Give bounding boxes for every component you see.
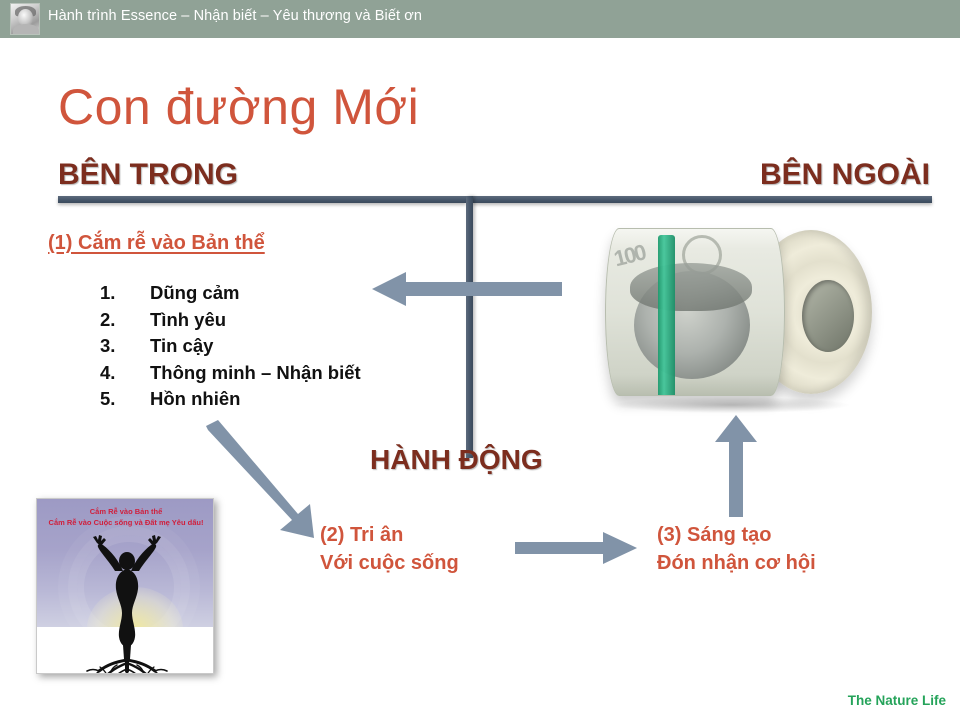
arrow-down-right-icon [200,420,320,535]
list-item-number: 3. [100,333,150,359]
page-title: Con đường Mới [58,78,419,136]
money-denomination: 100 [611,240,647,273]
money-roll-hole [802,280,854,352]
heading-outside: BÊN NGOÀI [760,158,930,192]
list-item-number: 2. [100,307,150,333]
step-2-line-2: Với cuộc sống [320,549,459,577]
list-item: 4. Thông minh – Nhận biết [100,360,500,386]
list-item-label: Thông minh – Nhận biết [150,360,361,386]
money-roll-front: 100 [605,228,785,396]
poster-text-line-2: Cắm Rễ vào Cuộc sống và Đất mẹ Yêu dấu! [37,517,214,528]
list-item-label: Tình yêu [150,307,226,333]
list-item: 3. Tin cậy [100,333,500,359]
slide-canvas: Hành trình Essence – Nhận biết – Yêu thư… [0,0,960,720]
avatar-body-shape [13,24,39,35]
list-item: 2. Tình yêu [100,307,500,333]
money-shadow [614,397,849,413]
step-3-label: (3) Sáng tạo Đón nhận cơ hội [657,521,816,577]
action-label: HÀNH ĐỘNG [370,444,543,476]
footer-watermark: The Nature Life [848,693,946,708]
list-item: 5. Hồn nhiên [100,386,500,412]
list-item-number: 5. [100,386,150,412]
list-item-label: Dũng cảm [150,280,239,306]
list-item-number: 4. [100,360,150,386]
step-2-line-1: (2) Tri ân [320,521,459,549]
step-2-label: (2) Tri ân Với cuộc sống [320,521,459,577]
step-3-line-2: Đón nhận cơ hội [657,549,816,577]
list-item-label: Tin cậy [150,333,213,359]
subheading-root-into-self: (1) Cắm rễ vào Bản thể [48,232,265,255]
heading-inside: BÊN TRONG [58,158,238,192]
header-title: Hành trình Essence – Nhận biết – Yêu thư… [48,8,422,24]
list-item-label: Hồn nhiên [150,386,240,412]
book-cover-image: Cắm Rễ vào Bản thể Cắm Rễ vào Cuộc sống … [36,498,214,674]
money-rubber-band [658,235,675,396]
arrow-left-icon [372,272,562,306]
arrow-right-icon [515,532,637,564]
divider-bar-left [58,196,466,203]
step-3-line-1: (3) Sáng tạo [657,521,816,549]
rolled-dollar-bills-image: 100 [600,218,875,413]
portrait-photo-icon [10,3,40,35]
poster-text-line-1: Cắm Rễ vào Bản thể [37,506,214,517]
poster-text: Cắm Rễ vào Bản thể Cắm Rễ vào Cuộc sống … [37,506,214,528]
money-portrait-hair [630,263,752,311]
arrow-up-icon [715,415,757,517]
presentation-header-bar: Hành trình Essence – Nhận biết – Yêu thư… [0,0,960,38]
list-item-number: 1. [100,280,150,306]
divider-bar-right [472,196,932,203]
